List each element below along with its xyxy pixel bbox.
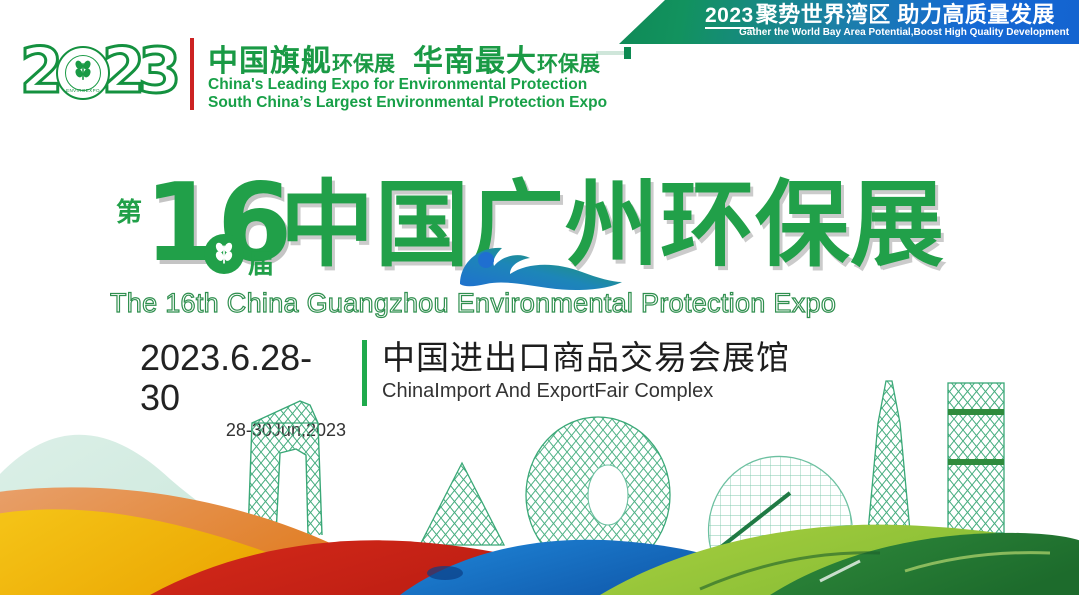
tall-tower-icon bbox=[948, 383, 1004, 533]
header-cn-1-small: 环保展 bbox=[332, 52, 395, 76]
hill-blue-highlight bbox=[427, 566, 463, 580]
ribbon-headline-cn: 聚势世界湾区 助力高质量发展 bbox=[756, 2, 1055, 27]
bottom-scenery bbox=[0, 375, 1079, 595]
header-block: 2 2 3 ENVIROEXPO 中国旗舰环保展华南最大环保展 bbox=[22, 36, 642, 116]
title-leaf-emblem bbox=[204, 234, 244, 274]
title-suffix: 届 bbox=[248, 244, 274, 281]
ribbon-headline: 2023聚势世界湾区 助力高质量发展 bbox=[705, 3, 1073, 28]
logo-leaf-emblem: ENVIROEXPO bbox=[56, 46, 110, 100]
header-chinese-lines: 中国旗舰环保展华南最大环保展 bbox=[208, 36, 600, 80]
top-ribbon-content: 2023聚势世界湾区 助力高质量发展 Gather the World Bay … bbox=[619, 0, 1079, 44]
logo-emblem-text: ENVIROEXPO bbox=[58, 88, 108, 93]
header-cn-2-big: 华南最大 bbox=[413, 44, 537, 79]
leaf-icon bbox=[70, 58, 96, 84]
logo-digit-3: 3 bbox=[138, 40, 181, 102]
title-prefix: 第 bbox=[116, 192, 142, 229]
header-divider bbox=[190, 38, 194, 110]
main-title-block: 第 16 届 中国广州环保展 bbox=[108, 178, 808, 308]
promo-banner: 2023聚势世界湾区 助力高质量发展 Gather the World Bay … bbox=[0, 0, 1079, 595]
header-en-line-1: China's Leading Expo for Environmental P… bbox=[208, 76, 607, 94]
logo-2023: 2 2 3 ENVIROEXPO bbox=[22, 40, 174, 102]
title-main-en: The 16th China Guangzhou Environmental P… bbox=[110, 288, 836, 318]
pyramid-icon bbox=[420, 463, 504, 545]
scenery-illustration bbox=[0, 375, 1079, 595]
header-cn-2-small: 环保展 bbox=[537, 52, 600, 76]
ribbon-subheadline-en: Gather the World Bay Area Potential,Boos… bbox=[739, 27, 1071, 39]
header-cn-1-big: 中国旗舰 bbox=[208, 44, 332, 79]
header-en-line-2: South China’s Largest Environmental Prot… bbox=[208, 94, 607, 112]
leaf-icon bbox=[210, 240, 238, 268]
event-venue-cn: 中国进出口商品交易会展馆 bbox=[382, 338, 790, 378]
cctv-tower-icon bbox=[248, 401, 322, 535]
header-english-lines: China's Leading Expo for Environmental P… bbox=[208, 76, 607, 111]
ribbon-year: 2023 bbox=[705, 4, 754, 29]
title-main-cn: 中国广州环保展 bbox=[280, 176, 945, 276]
